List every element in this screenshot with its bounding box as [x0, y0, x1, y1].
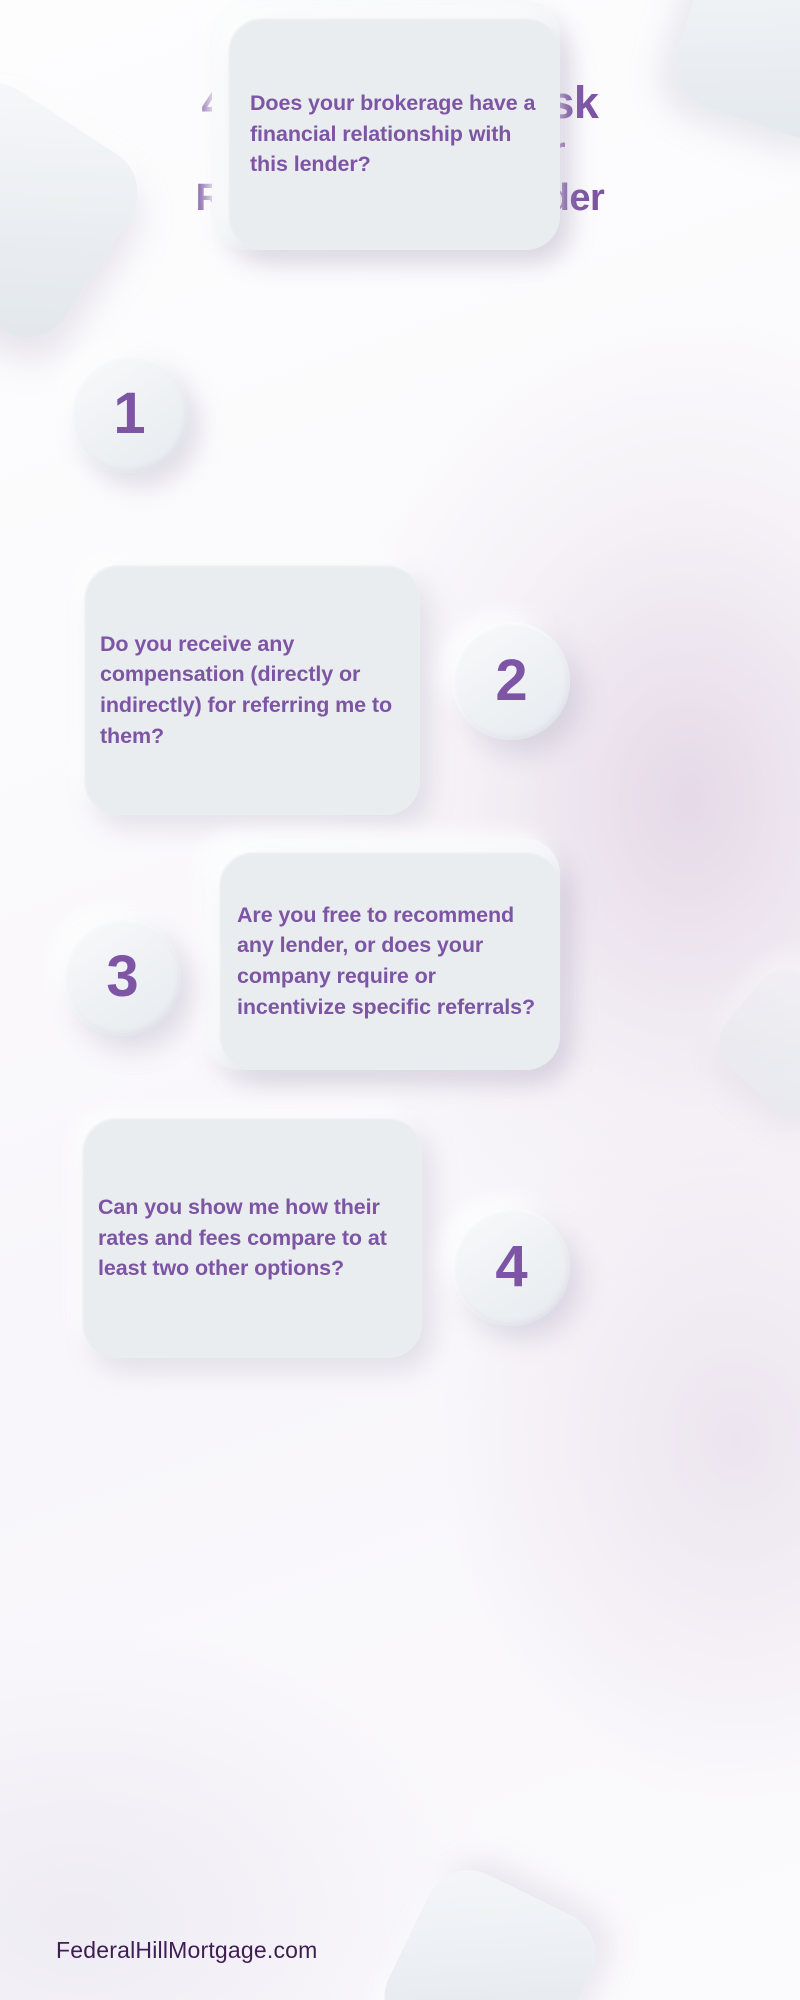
- question-card-4: Can you show me how their rates and fees…: [82, 1118, 422, 1358]
- question-number-1: 1: [113, 385, 144, 443]
- infographic-root: 4 Questions to Ask When Your Realtor Rec…: [0, 0, 800, 2000]
- footer-website[interactable]: FederalHillMortgage.com: [56, 1937, 318, 1964]
- question-text-2: Do you receive any compensation (directl…: [100, 629, 400, 751]
- question-card-3: Are you free to recommend any lender, or…: [219, 852, 560, 1070]
- question-number-4: 4: [495, 1238, 526, 1296]
- question-number-2: 2: [495, 652, 526, 710]
- question-number-badge-2: 2: [452, 622, 570, 740]
- question-text-3: Are you free to recommend any lender, or…: [237, 900, 538, 1022]
- question-text-1: Does your brokerage have a financial rel…: [250, 88, 536, 180]
- question-card-1: Does your brokerage have a financial rel…: [228, 18, 560, 250]
- question-number-badge-1: 1: [70, 355, 188, 473]
- question-number-3: 3: [106, 948, 137, 1006]
- question-text-4: Can you show me how their rates and fees…: [98, 1192, 402, 1284]
- question-card-2: Do you receive any compensation (directl…: [84, 565, 420, 815]
- question-number-badge-3: 3: [63, 918, 181, 1036]
- question-number-badge-4: 4: [452, 1208, 570, 1326]
